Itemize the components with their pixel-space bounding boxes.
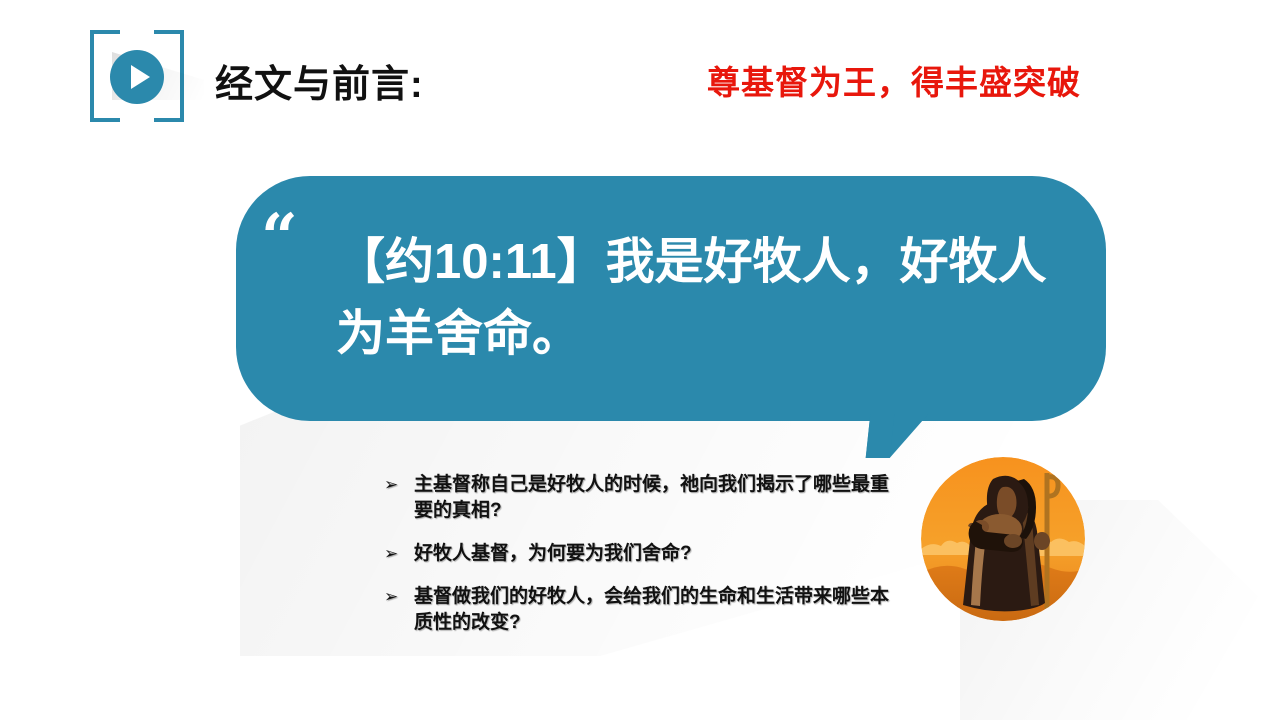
list-item: ➢ 基督做我们的好牧人，会给我们的生命和生活带来哪些本质性的改变? bbox=[384, 584, 894, 636]
frame-segment-left bbox=[90, 30, 94, 122]
slide-header: 经文与前言: 尊基督为王，得丰盛突破 bbox=[0, 0, 1280, 150]
play-button-icon[interactable] bbox=[110, 50, 164, 104]
play-triangle-icon bbox=[131, 65, 150, 89]
header-subtitle: 尊基督为王，得丰盛突破 bbox=[707, 56, 1081, 104]
arrow-bullet-icon: ➢ bbox=[384, 541, 414, 567]
quote-mark-icon: “ bbox=[261, 212, 298, 264]
arrow-bullet-icon: ➢ bbox=[384, 472, 414, 498]
scripture-quote-text: 【约10:11】我是好牧人，好牧人为羊舍命。 bbox=[336, 226, 1066, 370]
question-text: 基督做我们的好牧人，会给我们的生命和生活带来哪些本质性的改变? bbox=[414, 584, 894, 636]
frame-segment-bottom-left bbox=[90, 118, 120, 122]
frame-segment-top-left bbox=[90, 30, 120, 34]
list-item: ➢ 主基督称自己是好牧人的时候，祂向我们揭示了哪些最重要的真相? bbox=[384, 472, 894, 524]
list-item: ➢ 好牧人基督，为何要为我们舍命? bbox=[384, 541, 894, 567]
good-shepherd-image bbox=[921, 457, 1085, 621]
quote-bubble-tail bbox=[866, 414, 929, 458]
slide-canvas: 经文与前言: 尊基督为王，得丰盛突破 “ 【约10:11】我是好牧人，好牧人为羊… bbox=[0, 0, 1280, 720]
page-title: 经文与前言: bbox=[215, 53, 424, 108]
question-text: 好牧人基督，为何要为我们舍命? bbox=[414, 541, 894, 567]
arrow-bullet-icon: ➢ bbox=[384, 584, 414, 610]
frame-segment-right bbox=[180, 30, 184, 122]
question-list: ➢ 主基督称自己是好牧人的时候，祂向我们揭示了哪些最重要的真相? ➢ 好牧人基督… bbox=[384, 472, 894, 653]
question-text: 主基督称自己是好牧人的时候，祂向我们揭示了哪些最重要的真相? bbox=[414, 472, 894, 524]
